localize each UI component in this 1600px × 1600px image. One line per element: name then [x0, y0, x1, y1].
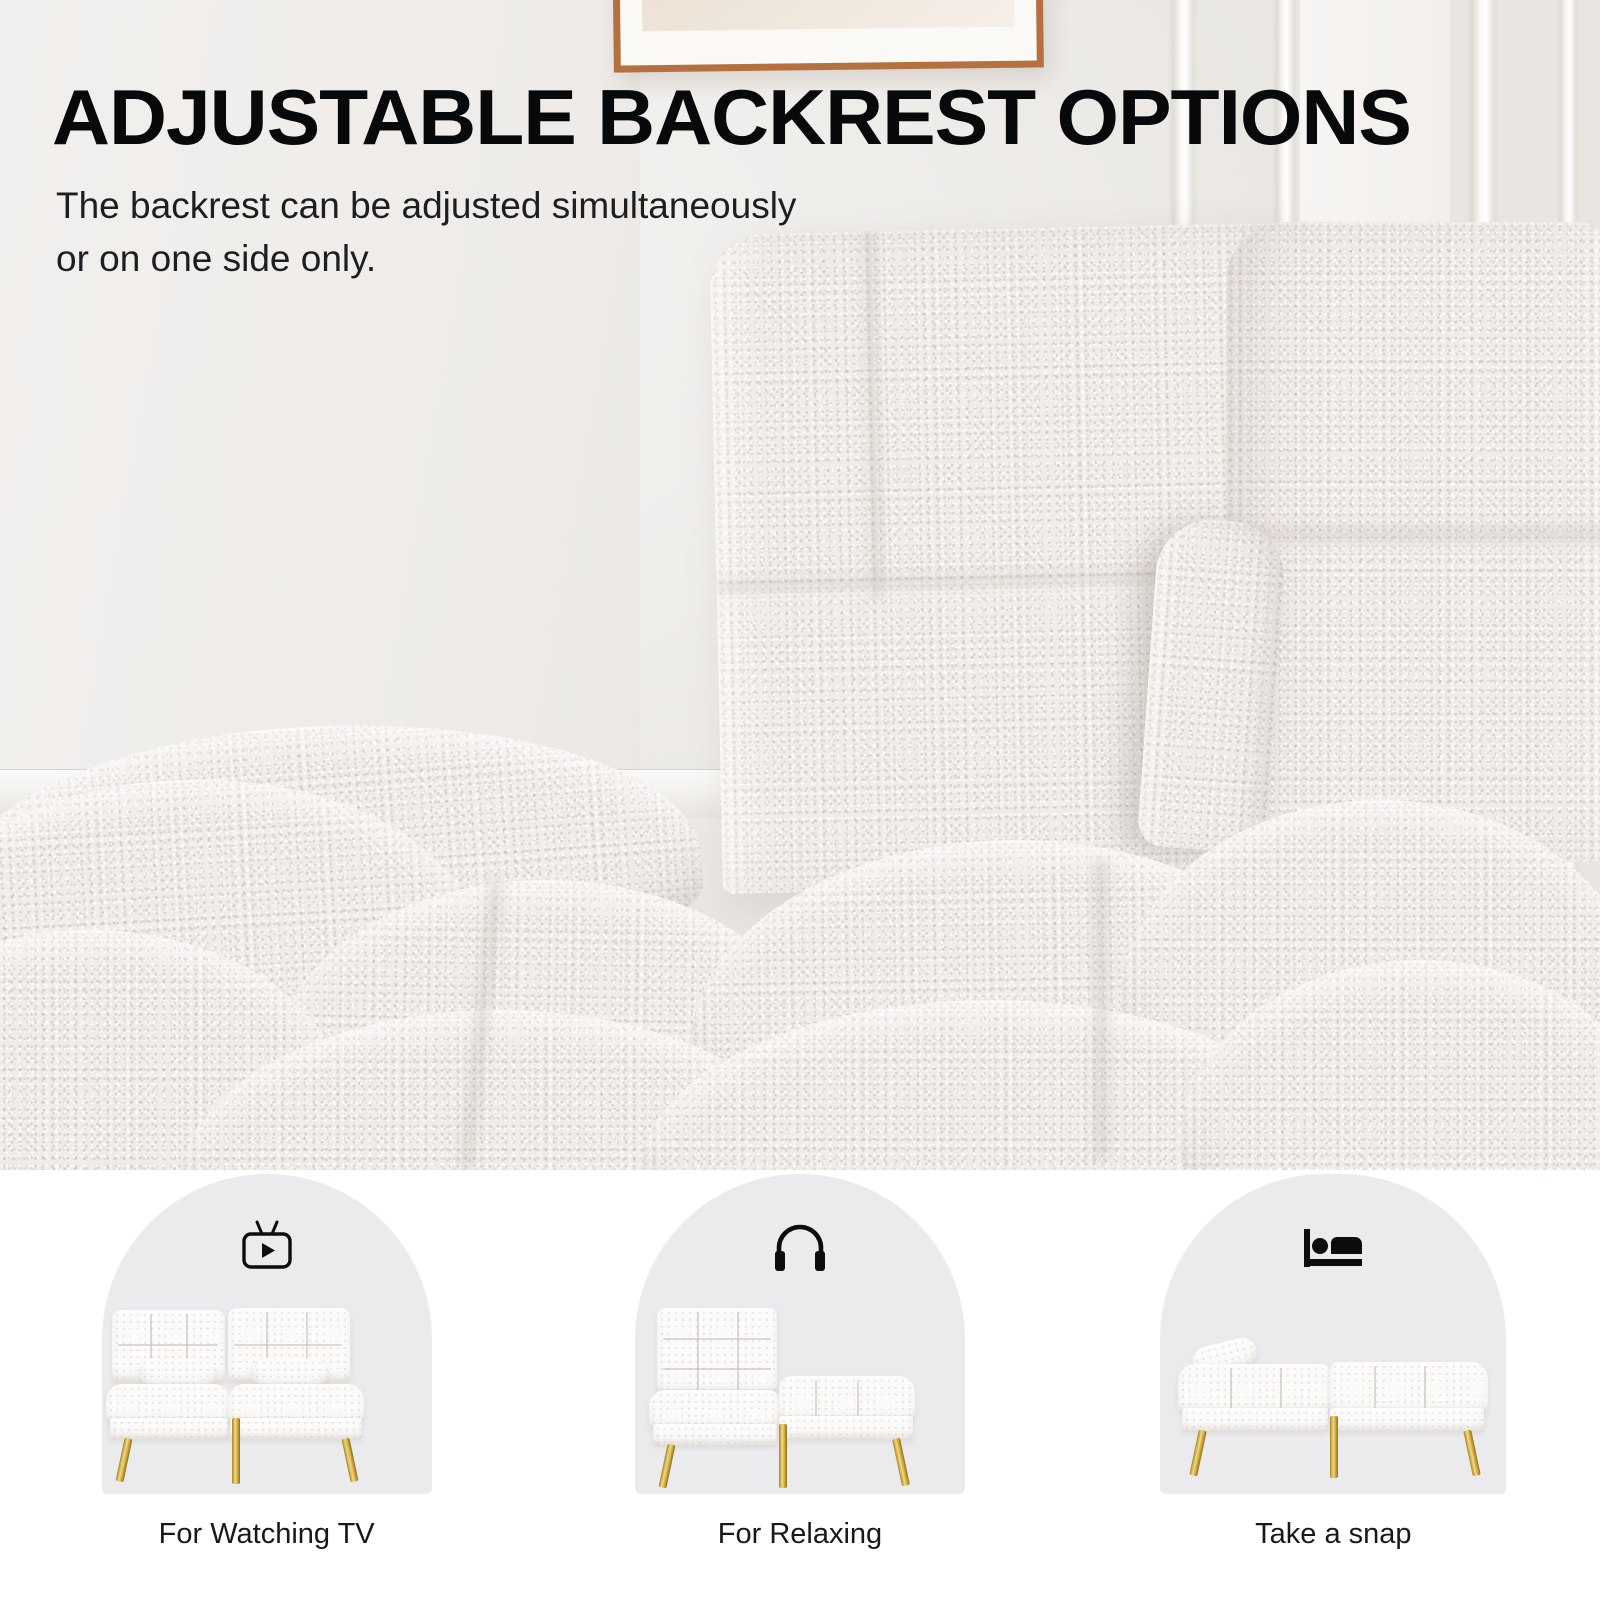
mode-card-label: Take a snap	[1067, 1518, 1600, 1551]
mode-card-label: For Relaxing	[533, 1518, 1066, 1551]
cushion-seam	[1090, 860, 1112, 1160]
hero-product-photo: ADJUSTABLE BACKREST OPTIONS The backrest…	[0, 0, 1600, 1170]
bolster-pillow	[1137, 516, 1288, 854]
backrest-seam	[859, 231, 887, 601]
sofa-illustration-reclined	[635, 1302, 965, 1492]
bed-icon	[1297, 1218, 1369, 1276]
frame-mat	[617, 0, 1037, 66]
headphones-icon	[764, 1218, 836, 1276]
sofa-backrest-right	[1226, 222, 1600, 862]
page-subtitle: The backrest can be adjusted simultaneou…	[56, 180, 1006, 285]
framed-wall-art	[610, 0, 1044, 73]
tv-icon	[231, 1218, 303, 1276]
mode-card-take-a-snap[interactable]: Take a snap	[1067, 1170, 1600, 1600]
mode-card-watching-tv[interactable]: For Watching TV	[0, 1170, 533, 1600]
sofa-illustration-upright	[102, 1302, 432, 1492]
mode-card-label: For Watching TV	[0, 1518, 533, 1551]
sofa-illustration-flat-bed	[1168, 1302, 1498, 1492]
subtitle-line-2: or on one side only.	[56, 233, 1006, 286]
mode-card-relaxing[interactable]: For Relaxing	[533, 1170, 1066, 1600]
mode-cards-row: For Watching TV	[0, 1170, 1600, 1600]
artwork	[640, 0, 1015, 31]
page-title: ADJUSTABLE BACKREST OPTIONS	[52, 78, 1600, 156]
subtitle-line-1: The backrest can be adjusted simultaneou…	[56, 180, 1006, 233]
